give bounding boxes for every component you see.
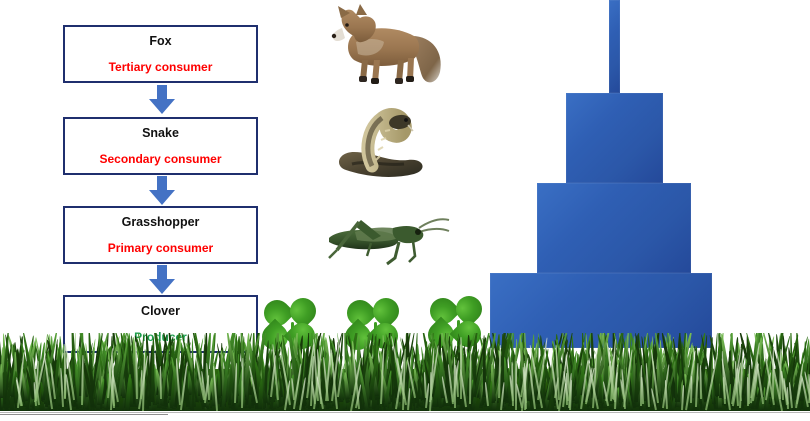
food-chain-box-name: Fox bbox=[149, 35, 171, 48]
grasshopper-photo bbox=[315, 206, 455, 271]
arrow-fox-to-snake bbox=[147, 85, 177, 115]
arrow-grasshopper-to-clover bbox=[147, 265, 177, 295]
food-chain-box-role: Tertiary consumer bbox=[109, 61, 213, 73]
food-chain-box-name: Clover bbox=[141, 305, 180, 318]
pyramid-tier-secondary-consumer bbox=[566, 93, 663, 183]
snake-photo bbox=[328, 104, 440, 193]
food-chain-box-role: Secondary consumer bbox=[99, 153, 221, 165]
food-chain-box-name: Snake bbox=[142, 127, 179, 140]
food-chain-box-grasshopper: Grasshopper Primary consumer bbox=[63, 206, 258, 264]
food-chain-box-role: Primary consumer bbox=[108, 242, 213, 254]
pyramid-tier-primary-consumer bbox=[537, 183, 691, 273]
food-chain-pyramid-diagram: Fox Tertiary consumer Snake Secondary co… bbox=[0, 0, 810, 421]
bottom-rule-segment bbox=[0, 414, 168, 415]
fox-photo bbox=[320, 2, 450, 95]
food-chain-box-fox: Fox Tertiary consumer bbox=[63, 25, 258, 83]
pyramid-tier-tertiary-consumer bbox=[609, 0, 620, 93]
arrow-snake-to-grasshopper bbox=[147, 176, 177, 206]
food-chain-box-snake: Snake Secondary consumer bbox=[63, 117, 258, 175]
food-chain-box-name: Grasshopper bbox=[122, 216, 200, 229]
bottom-rule bbox=[0, 412, 810, 413]
grass-foreground bbox=[0, 333, 810, 411]
